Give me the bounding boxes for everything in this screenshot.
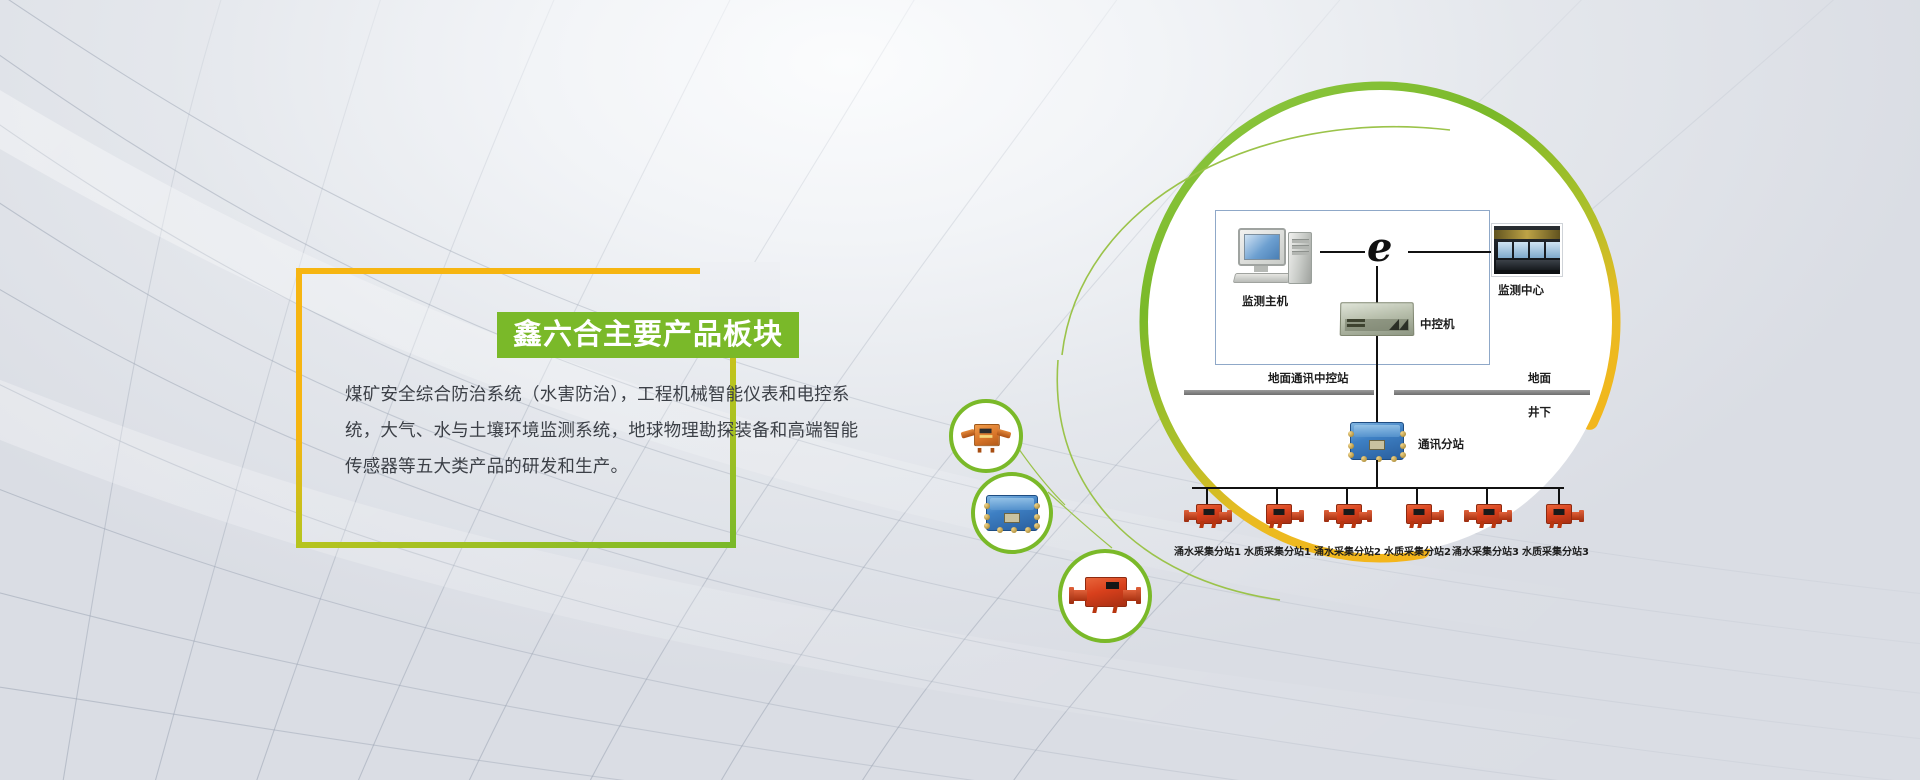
monitor-host-icon bbox=[1238, 228, 1316, 286]
bus-drop-4 bbox=[1416, 487, 1418, 504]
monitor-stand bbox=[1254, 266, 1268, 272]
pc-tower bbox=[1288, 232, 1312, 284]
substation-device bbox=[1540, 504, 1576, 534]
bus-drop-3 bbox=[1346, 487, 1348, 504]
label-underground: 井下 bbox=[1528, 404, 1551, 420]
product-bubble-red-collector[interactable] bbox=[1058, 549, 1152, 643]
ground-divider-left bbox=[1184, 390, 1374, 395]
banner-stage: 鑫六合主要产品板块 煤矿安全综合防治系统（水害防治），工程机械智能仪表和电控系统… bbox=[0, 0, 1920, 780]
ceiling-light bbox=[1494, 230, 1560, 239]
label-comm-substation: 通讯分站 bbox=[1418, 436, 1464, 452]
bus-drop-5 bbox=[1486, 487, 1488, 504]
product-bubble-blue-junction-box[interactable] bbox=[971, 472, 1053, 554]
bus-drop-2 bbox=[1276, 487, 1278, 504]
ground-divider-right bbox=[1394, 390, 1590, 395]
label-substation-3: 涌水采集分站2 bbox=[1314, 543, 1381, 558]
label-monitor-center: 监测中心 bbox=[1498, 282, 1544, 298]
label-central-control: 中控机 bbox=[1420, 316, 1455, 332]
central-control-server-icon bbox=[1340, 302, 1415, 336]
crt-monitor bbox=[1238, 228, 1286, 266]
panel-description: 煤矿安全综合防治系统（水害防治），工程机械智能仪表和电控系统，大气、水与土壤环境… bbox=[345, 378, 865, 486]
video-wall bbox=[1498, 242, 1560, 258]
substation-device bbox=[1186, 504, 1230, 534]
substation-device bbox=[1326, 504, 1370, 534]
label-substation-1: 涌水采集分站1 bbox=[1174, 543, 1241, 558]
wire-host-to-network bbox=[1320, 251, 1365, 253]
network-e-icon: e bbox=[1367, 228, 1392, 268]
keyboard bbox=[1233, 273, 1291, 283]
wire-network-to-center bbox=[1408, 251, 1493, 253]
substation-device bbox=[1260, 504, 1296, 534]
blue-junction-box-icon bbox=[986, 495, 1038, 531]
label-monitor-host: 监测主机 bbox=[1242, 293, 1288, 309]
red-flow-collector-icon bbox=[1069, 577, 1141, 615]
server-badge-b bbox=[1399, 319, 1408, 330]
control-desk bbox=[1496, 260, 1562, 270]
substation-display bbox=[1369, 440, 1385, 450]
label-ground-station: 地面通讯中控站 bbox=[1268, 370, 1349, 386]
server-badge-a bbox=[1389, 319, 1399, 330]
monitor-screen bbox=[1244, 234, 1280, 260]
substation-device bbox=[1466, 504, 1510, 534]
substation-device bbox=[1400, 504, 1436, 534]
bus-horizontal bbox=[1192, 487, 1564, 489]
orange-sensor-device-icon bbox=[961, 422, 1011, 450]
wire-network-to-control bbox=[1376, 266, 1378, 306]
box-lid bbox=[990, 498, 1034, 510]
substation-lid bbox=[1354, 425, 1400, 437]
system-diagram: 监测主机 e 监测中心 中控机 地面通讯中控站 地面 井下 bbox=[1180, 190, 1600, 570]
bus-drop-1 bbox=[1206, 487, 1208, 504]
page-title: 鑫六合主要产品板块 bbox=[497, 312, 799, 358]
label-substation-4: 水质采集分站2 bbox=[1384, 543, 1451, 558]
label-substation-6: 水质采集分站3 bbox=[1522, 543, 1589, 558]
box-display bbox=[1004, 513, 1020, 523]
product-bubble-orange-sensor[interactable] bbox=[949, 399, 1023, 473]
bus-drop-6 bbox=[1558, 487, 1560, 504]
label-substation-2: 水质采集分站1 bbox=[1244, 543, 1311, 558]
label-surface: 地面 bbox=[1528, 370, 1551, 386]
monitor-center-photo bbox=[1492, 224, 1562, 276]
background-curve-pattern bbox=[0, 0, 1920, 780]
comm-substation-icon bbox=[1350, 422, 1404, 460]
label-substation-5: 涌水采集分站3 bbox=[1452, 543, 1519, 558]
wire-substation-down bbox=[1376, 460, 1378, 488]
